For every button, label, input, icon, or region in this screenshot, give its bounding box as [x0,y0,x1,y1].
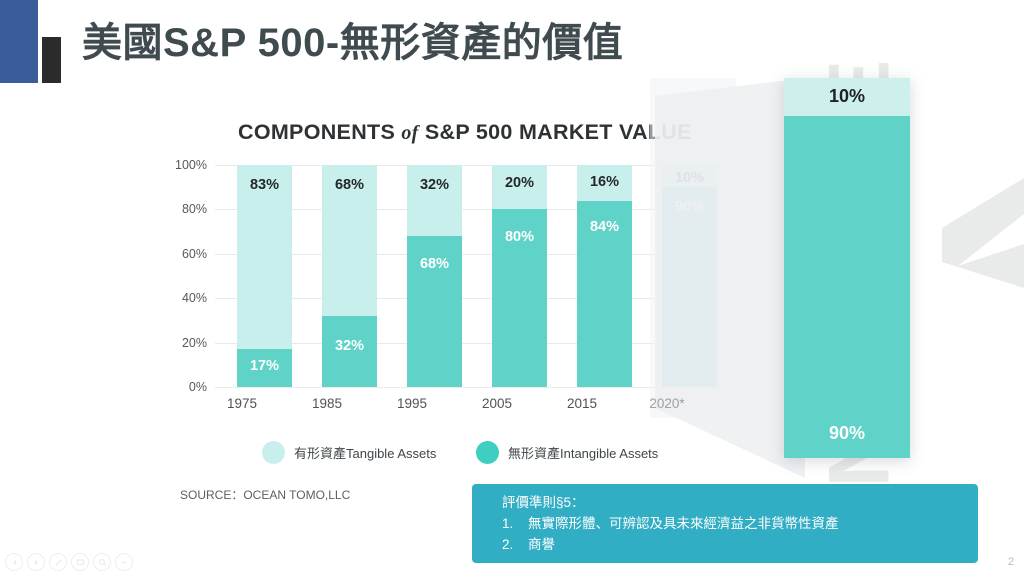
y-axis: 100% 80% 60% 40% 20% 0% [145,165,207,387]
bar-1985[interactable]: 68% 32% [322,165,377,387]
bar-1975-tangible: 83% [237,165,292,349]
bar-2005[interactable]: 20% 80% [492,165,547,387]
zoom-icon[interactable] [93,553,111,571]
decor-blue-block [0,0,38,83]
presentation-toolbar[interactable] [5,553,133,571]
bar-2005-tangible-label: 20% [492,175,547,191]
bar-1985-intangible-label: 32% [322,338,377,354]
legend-swatch-tangible-icon [262,441,285,464]
bar-2005-tangible: 20% [492,165,547,209]
pen-icon[interactable] [49,553,67,571]
bar-1995-tangible-label: 32% [407,177,462,193]
callout-item-1-number: 1. [502,514,528,535]
x-label-2020: 2020* [622,396,712,411]
chart-title: COMPONENTS of S&P 500 MARKET VALUE [238,120,708,145]
bar-2015-tangible-label: 16% [577,174,632,190]
bar-2020-tangible: 10% [662,165,717,187]
bar-2020-tangible-label: 10% [662,170,717,186]
bar-1985-tangible: 68% [322,165,377,316]
previous-icon[interactable] [5,553,23,571]
magnified-tangible-segment: 10% [784,78,910,116]
bar-1975-intangible: 17% [237,349,292,387]
callout-box: 評價準則§5： 1. 無實際形體、可辨認及具未來經濟益之非貨幣性資產 2. 商譽 [472,484,978,563]
play-icon[interactable] [27,553,45,571]
decor-dark-block [42,37,61,83]
magnified-intangible-label: 90% [784,423,910,444]
bar-2015-intangible: 84% [577,201,632,388]
slide-canvas: 美國S&P 500-無形資產的價值 INNOVUE COMPONENTS of … [0,0,1024,576]
magnified-bar-2020[interactable]: 10% 90% [784,78,910,458]
bar-2020[interactable]: 10% 90% [662,165,717,387]
callout-item-2: 2. 商譽 [502,535,978,556]
bar-2005-intangible: 80% [492,209,547,387]
bar-1975-intangible-label: 17% [237,358,292,374]
y-tick-20: 20% [145,336,207,350]
callout-item-2-text: 商譽 [528,535,555,556]
bar-2005-intangible-label: 80% [492,229,547,245]
callout-item-2-number: 2. [502,535,528,556]
x-label-1975: 1975 [197,396,287,411]
callout-heading: 評價準則§5： [502,493,978,514]
chart-title-prefix: COMPONENTS [238,120,395,144]
page-title: 美國S&P 500-無形資產的價值 [82,19,623,67]
callout-item-1: 1. 無實際形體、可辨認及具未來經濟益之非貨幣性資產 [502,514,978,535]
chart-title-italic: of [401,122,418,144]
callout-item-1-text: 無實際形體、可辨認及具未來經濟益之非貨幣性資產 [528,514,839,535]
bar-2020-intangible-label: 90% [662,199,717,215]
x-label-2005: 2005 [452,396,542,411]
bar-2015[interactable]: 16% 84% [577,165,632,387]
bar-2015-intangible-label: 84% [577,219,632,235]
magnified-intangible-segment: 90% [784,116,910,458]
y-tick-80: 80% [145,202,207,216]
chart-title-suffix: S&P 500 MARKET VALUE [425,120,692,144]
legend-item-intangible[interactable]: 無形資產Intangible Assets [476,441,658,464]
bar-1995-intangible: 68% [407,236,462,387]
magnified-tangible-label: 10% [784,86,910,107]
x-label-1985: 1985 [282,396,372,411]
watermark-swoosh-icon [940,170,1024,300]
bar-1995[interactable]: 32% 68% [407,165,462,387]
y-tick-40: 40% [145,291,207,305]
bar-1995-intangible-label: 68% [407,256,462,272]
y-tick-100: 100% [145,158,207,172]
legend-item-tangible[interactable]: 有形資產Tangible Assets [262,441,436,464]
menu-icon[interactable] [115,553,133,571]
bar-1995-tangible: 32% [407,165,462,236]
bar-1975[interactable]: 83% 17% [237,165,292,387]
x-label-2015: 2015 [537,396,627,411]
presentation-icon[interactable] [71,553,89,571]
bar-1985-tangible-label: 68% [322,177,377,193]
y-tick-0: 0% [145,380,207,394]
legend-label-tangible: 有形資產Tangible Assets [294,443,436,462]
bar-2020-intangible: 90% [662,187,717,387]
bar-1985-intangible: 32% [322,316,377,387]
plot-area: 83% 17% 68% 32% 32% 68% [215,165,720,387]
legend-swatch-intangible-icon [476,441,499,464]
bar-2015-tangible: 16% [577,165,632,201]
page-number: 2 [1008,556,1014,568]
chart-legend: 有形資產Tangible Assets 無形資產Intangible Asset… [262,441,682,465]
legend-label-intangible: 無形資產Intangible Assets [508,443,658,462]
x-label-1995: 1995 [367,396,457,411]
chart-source: SOURCE：OCEAN TOMO,LLC [180,486,350,503]
y-tick-60: 60% [145,247,207,261]
bar-1975-tangible-label: 83% [237,177,292,193]
